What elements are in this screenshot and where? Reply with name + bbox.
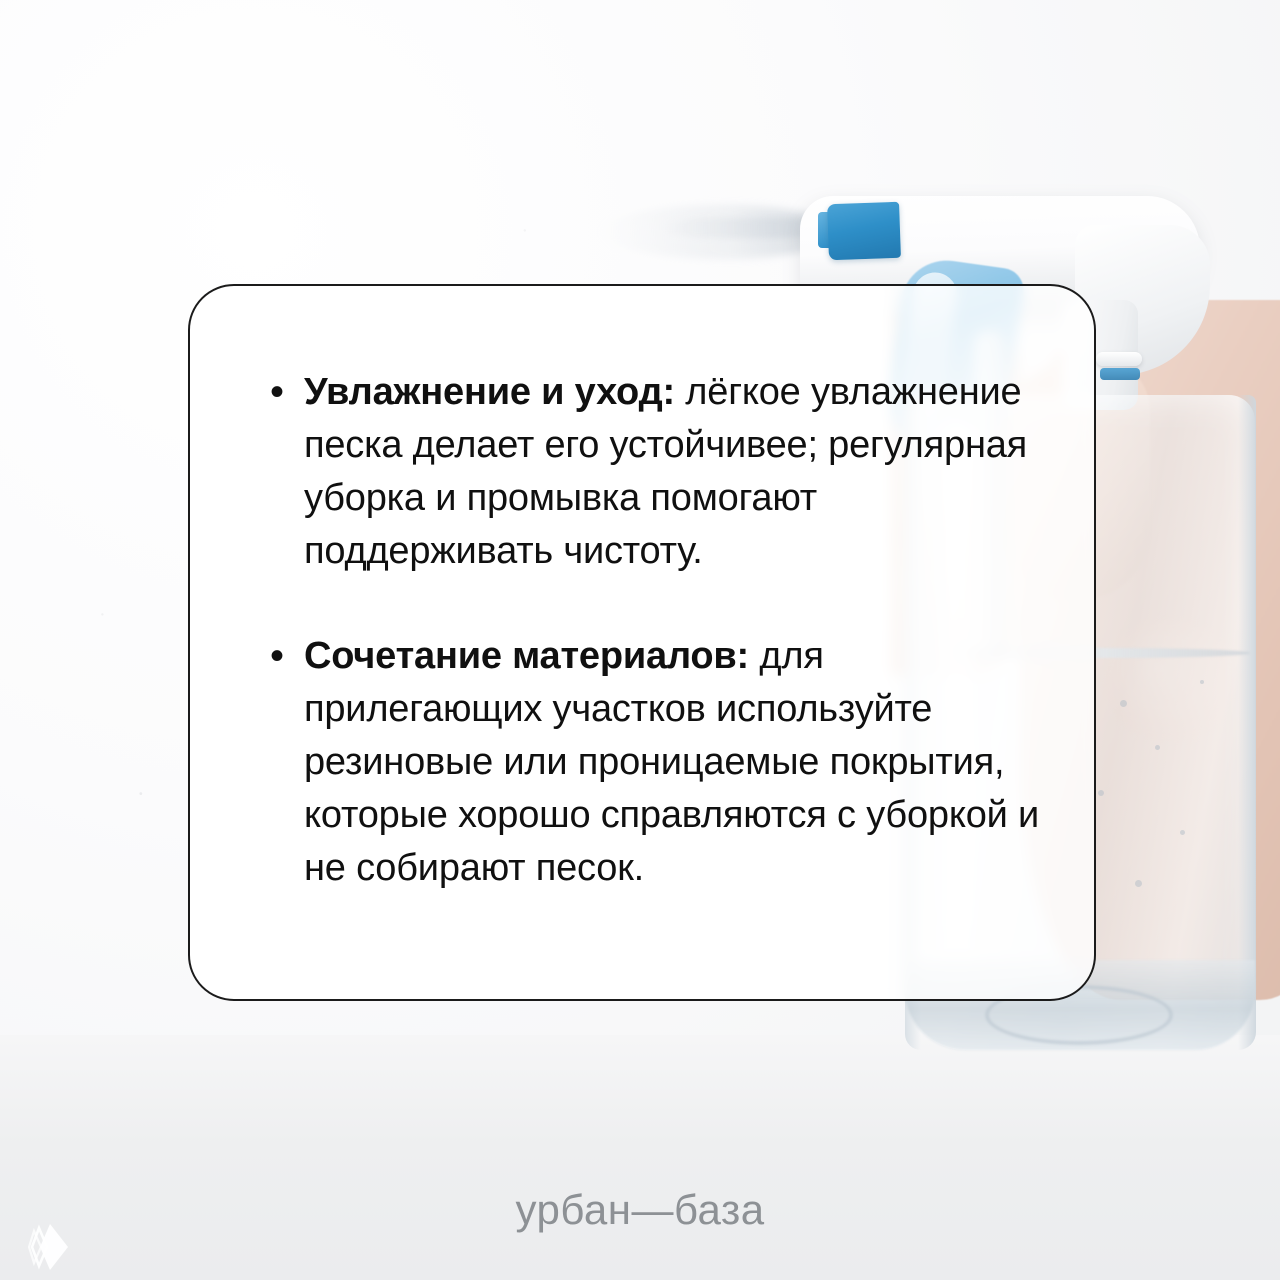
list-item: • Увлажнение и уход: лёгкое увлажнение п… bbox=[262, 366, 1052, 578]
bubble bbox=[1155, 745, 1160, 750]
bullet-marker-icon: • bbox=[262, 366, 304, 418]
bubble bbox=[1200, 680, 1204, 684]
bullet-lead: Сочетание материалов: bbox=[304, 635, 749, 677]
bubble bbox=[1120, 700, 1127, 707]
diamond-logo-icon bbox=[26, 1222, 72, 1272]
sprayer-clip-accent bbox=[1100, 368, 1140, 380]
bullet-text: Сочетание материалов: для прилегающих уч… bbox=[304, 630, 1052, 895]
list-item: • Сочетание материалов: для прилегающих … bbox=[262, 630, 1052, 895]
bullet-marker-icon: • bbox=[262, 630, 304, 682]
spray-nozzle-icon bbox=[827, 202, 901, 260]
background-floor-band bbox=[0, 1035, 1280, 1280]
brand-wordmark: урбан—база bbox=[0, 1186, 1280, 1234]
bullet-text: Увлажнение и уход: лёгкое увлажнение пес… bbox=[304, 366, 1052, 578]
bullet-lead: Увлажнение и уход: bbox=[304, 371, 675, 413]
bottle-right-edge bbox=[1238, 395, 1256, 1050]
sprayer-clip-shape bbox=[1096, 352, 1142, 366]
bullet-list: • Увлажнение и уход: лёгкое увлажнение п… bbox=[262, 366, 1052, 895]
bubble bbox=[1135, 880, 1142, 887]
bubble bbox=[1098, 790, 1104, 796]
slide-canvas: • Увлажнение и уход: лёгкое увлажнение п… bbox=[0, 0, 1280, 1280]
bubble bbox=[1180, 830, 1185, 835]
